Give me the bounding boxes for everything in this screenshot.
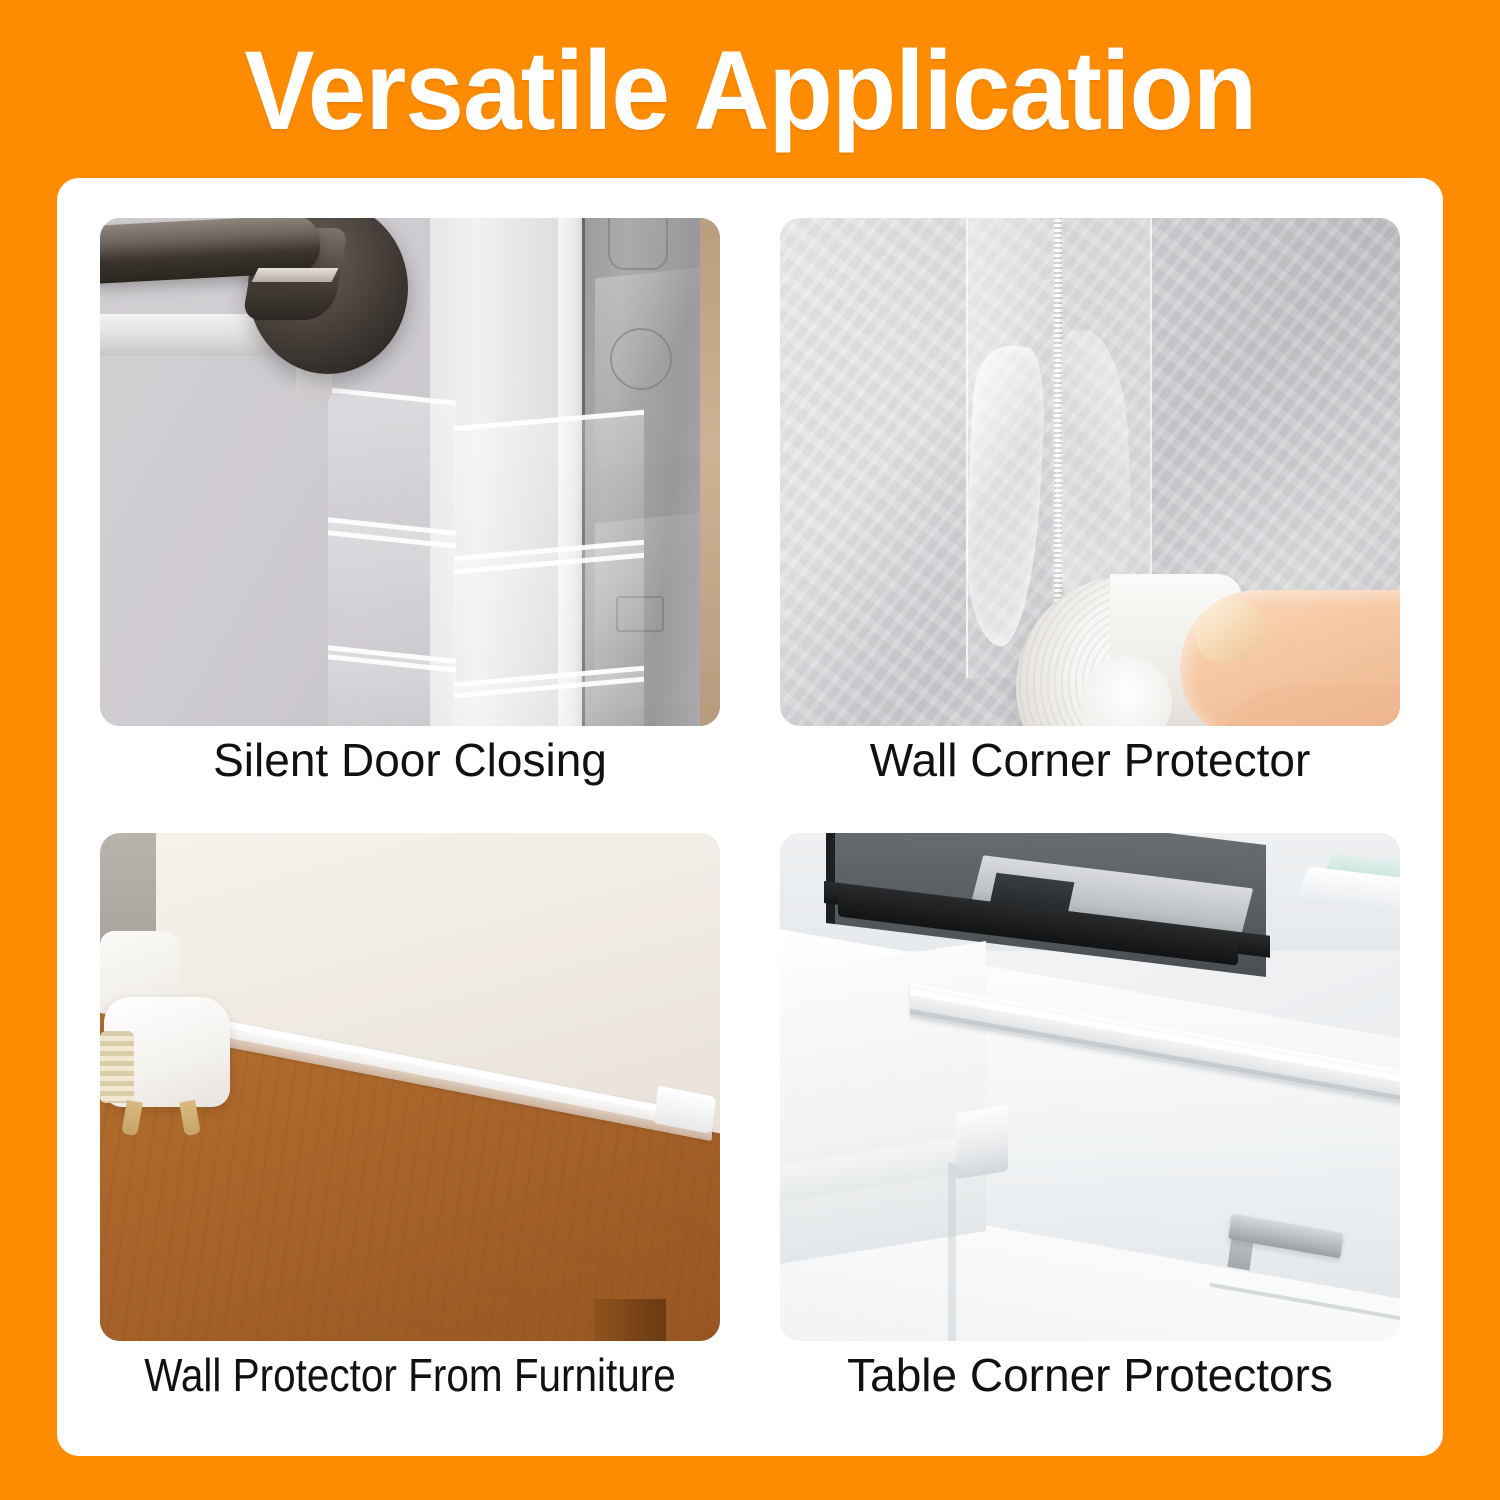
door-hardware-mark-circle [610,328,672,390]
tile-caption-table-corner-protectors: Table Corner Protectors [780,1349,1400,1402]
door-handle-lever-underside [252,268,339,282]
application-grid: Silent Door Closing [100,218,1400,1428]
clear-corner-protector-wrap [956,1105,1008,1179]
content-card: Silent Door Closing [57,178,1443,1456]
product-infographic-poster: Versatile Application [0,0,1500,1500]
photo-table-corner-protectors [780,833,1400,1341]
page-title: Versatile Application [244,35,1256,147]
application-tile-table-corner-protectors[interactable]: Table Corner Protectors [780,833,1400,1448]
application-tile-wall-corner-protector[interactable]: Wall Corner Protector [780,218,1400,833]
table-leg [594,1299,666,1341]
humidifier-vent-grill [100,1031,134,1103]
photo-wall-corner-protector [780,218,1400,726]
humidifier-upper-shell [100,931,180,1003]
door-hardware-mark-top [608,218,668,270]
photo-silent-door-closing [100,218,720,726]
tile-caption-wall-protector-from-furniture: Wall Protector From Furniture [137,1349,683,1402]
tile-caption-silent-door-closing: Silent Door Closing [100,734,720,787]
photo-wall-protector-from-furniture [100,833,720,1341]
tile-caption-wall-corner-protector: Wall Corner Protector [780,734,1400,787]
background-room [700,218,720,726]
corner-protector-strip-3-left [328,645,456,726]
application-tile-silent-door-closing[interactable]: Silent Door Closing [100,218,720,833]
cabinet-drawer-seam [948,1162,956,1341]
application-tile-wall-protector-from-furniture[interactable]: Wall Protector From Furniture [100,833,720,1448]
poster-header: Versatile Application [0,0,1500,178]
